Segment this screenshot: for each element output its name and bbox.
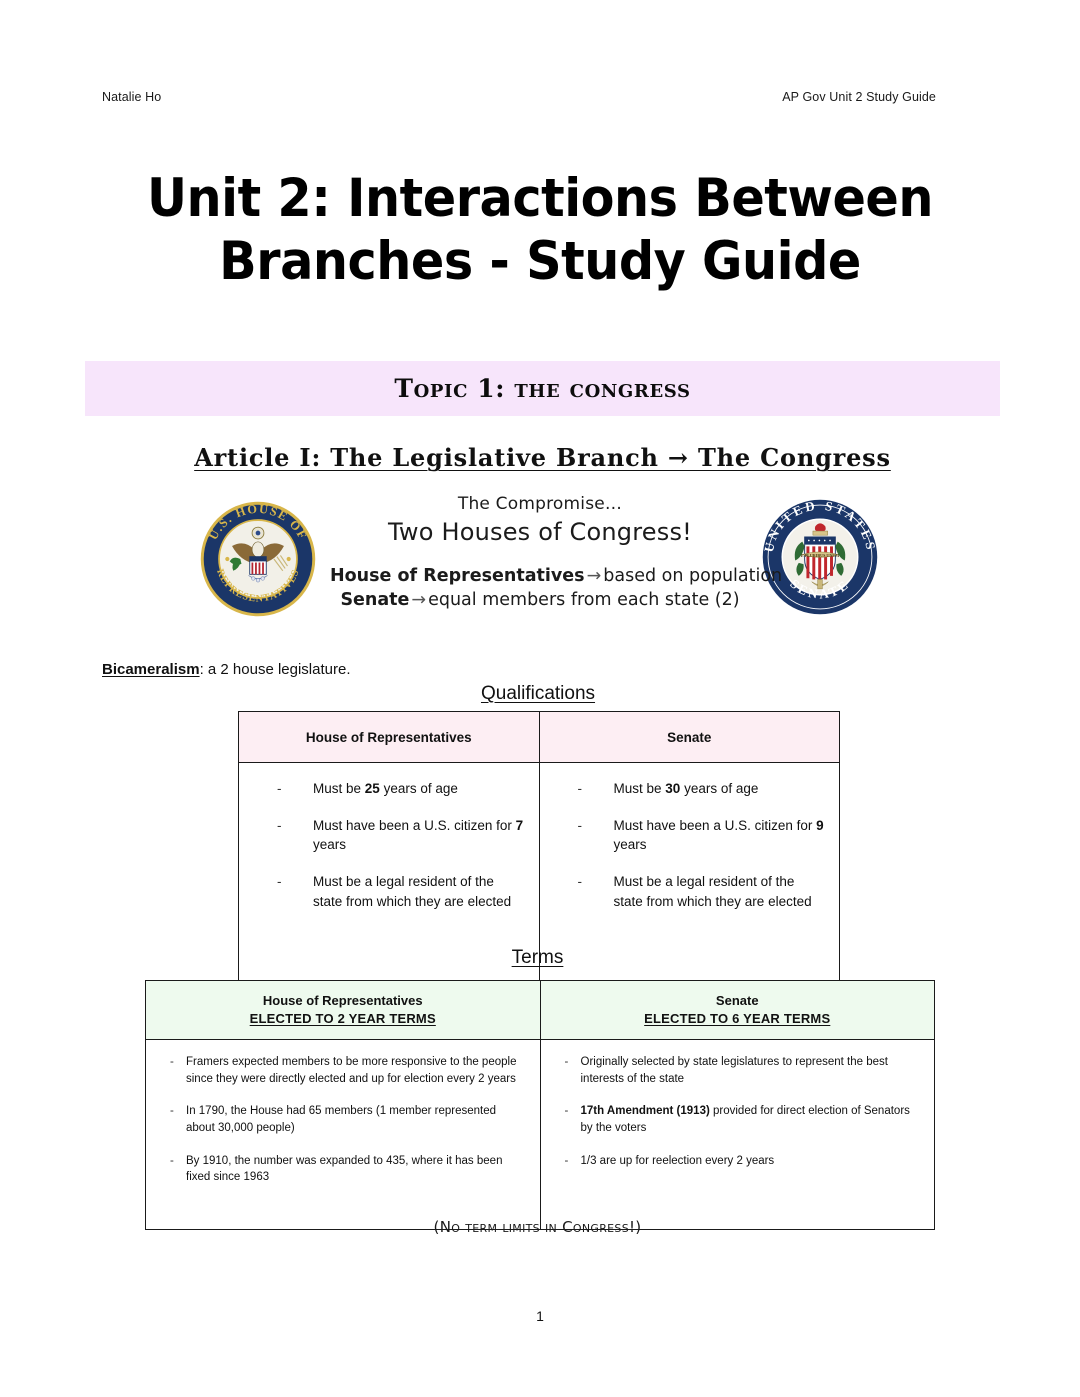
item-bold: 9 bbox=[816, 818, 824, 833]
page-number: 1 bbox=[0, 1308, 1080, 1324]
topic-banner: Topic 1: The Congress bbox=[85, 361, 1000, 416]
item-post: years bbox=[614, 837, 647, 852]
qualifications-heading: Qualifications bbox=[238, 683, 838, 705]
arrow-right-icon: → bbox=[409, 590, 428, 610]
item-pre: Originally selected by state legislature… bbox=[581, 1056, 888, 1085]
table-row: Framers expected members to be more resp… bbox=[146, 1040, 935, 1230]
item-pre: Must be a legal resident of the state fr… bbox=[614, 874, 812, 908]
compromise-senate-label: Senate bbox=[340, 590, 409, 610]
running-header: Natalie Ho AP Gov Unit 2 Study Guide bbox=[102, 90, 936, 104]
item-post: years of age bbox=[380, 781, 458, 796]
us-house-of-representatives-seal: U.S. HOUSE OF REPRESENTATIVES bbox=[199, 500, 317, 618]
item-bold: 17th Amendment (1913) bbox=[581, 1105, 710, 1117]
terms-house-list: Framers expected members to be more resp… bbox=[160, 1054, 526, 1186]
terms-senate-cell: Originally selected by state legislature… bbox=[540, 1040, 935, 1230]
terms-senate-list: Originally selected by state legislature… bbox=[555, 1054, 921, 1169]
item-pre: By 1910, the number was expanded to 435,… bbox=[186, 1155, 502, 1184]
item-pre: Must have been a U.S. citizen for bbox=[614, 818, 817, 833]
column-title: Senate bbox=[541, 992, 935, 1010]
united-states-senate-seal: UNITED STATES SENATE E PLURIBUS UNUM bbox=[761, 498, 879, 616]
column-subtitle: ELECTED TO 6 YEAR TERMS bbox=[541, 1010, 935, 1028]
list-item: Must be 30 years of age bbox=[552, 779, 828, 798]
item-pre: Must be bbox=[614, 781, 666, 796]
column-subtitle: ELECTED TO 2 YEAR TERMS bbox=[146, 1010, 540, 1028]
compromise-house-rule: House of Representatives→based on popula… bbox=[330, 566, 750, 586]
list-item: Originally selected by state legislature… bbox=[555, 1054, 921, 1087]
compromise-senate-rule: Senate→equal members from each state (2) bbox=[330, 590, 750, 610]
terms-heading: Terms bbox=[140, 947, 935, 969]
list-item: Must have been a U.S. citizen for 7 year… bbox=[251, 816, 527, 854]
column-title: House of Representatives bbox=[146, 992, 540, 1010]
author-name: Natalie Ho bbox=[102, 90, 161, 104]
qualifications-senate-list: Must be 30 years of age Must have been a… bbox=[552, 779, 828, 911]
terms-table: House of Representatives ELECTED TO 2 YE… bbox=[145, 980, 935, 1230]
compromise-line-2: Two Houses of Congress! bbox=[330, 518, 750, 546]
compromise-note: The Compromise… Two Houses of Congress! … bbox=[330, 494, 750, 610]
svg-text:E PLURIBUS UNUM: E PLURIBUS UNUM bbox=[801, 553, 839, 558]
item-pre: Must have been a U.S. citizen for bbox=[313, 818, 516, 833]
item-pre: Framers expected members to be more resp… bbox=[186, 1056, 516, 1085]
list-item: Must be a legal resident of the state fr… bbox=[251, 872, 527, 910]
item-bold: 7 bbox=[516, 818, 524, 833]
table-header-row: House of Representatives ELECTED TO 2 YE… bbox=[146, 981, 935, 1040]
bicameralism-definition: Bicameralism: a 2 house legislature. bbox=[102, 661, 351, 678]
item-post: years of age bbox=[680, 781, 758, 796]
bicameralism-term: Bicameralism bbox=[102, 661, 200, 678]
list-item: In 1790, the House had 65 members (1 mem… bbox=[160, 1103, 526, 1136]
compromise-house-value: based on population bbox=[603, 566, 782, 586]
compromise-line-1: The Compromise… bbox=[330, 494, 750, 514]
list-item: Framers expected members to be more resp… bbox=[160, 1054, 526, 1087]
qualifications-table: House of Representatives Senate Must be … bbox=[238, 711, 840, 986]
topic-banner-label: Topic 1: The Congress bbox=[394, 374, 690, 403]
list-item: 17th Amendment (1913) provided for direc… bbox=[555, 1103, 921, 1136]
article-subtitle: Article I: The Legislative Branch → The … bbox=[85, 443, 1000, 472]
document-page: Natalie Ho AP Gov Unit 2 Study Guide Uni… bbox=[0, 0, 1080, 1397]
column-header-senate: Senate bbox=[539, 712, 840, 763]
list-item: Must be a legal resident of the state fr… bbox=[552, 872, 828, 910]
item-pre: Must be a legal resident of the state fr… bbox=[313, 874, 511, 908]
item-pre: In 1790, the House had 65 members (1 mem… bbox=[186, 1105, 496, 1134]
item-pre: Must be bbox=[313, 781, 365, 796]
page-title: Unit 2: Interactions Between Branches - … bbox=[140, 168, 940, 293]
list-item: Must have been a U.S. citizen for 9 year… bbox=[552, 816, 828, 854]
item-pre: 1/3 are up for reelection every 2 years bbox=[581, 1155, 775, 1167]
qualifications-house-list: Must be 25 years of age Must have been a… bbox=[251, 779, 527, 911]
document-label: AP Gov Unit 2 Study Guide bbox=[782, 90, 936, 104]
list-item: 1/3 are up for reelection every 2 years bbox=[555, 1153, 921, 1170]
arrow-right-icon: → bbox=[585, 566, 604, 586]
column-header-house: House of Representatives bbox=[239, 712, 540, 763]
column-header-senate-terms: Senate ELECTED TO 6 YEAR TERMS bbox=[540, 981, 935, 1040]
column-header-house-terms: House of Representatives ELECTED TO 2 YE… bbox=[146, 981, 541, 1040]
compromise-senate-value: equal members from each state (2) bbox=[428, 590, 739, 610]
item-post: years bbox=[313, 837, 346, 852]
bicameralism-text: : a 2 house legislature. bbox=[200, 661, 351, 678]
table-header-row: House of Representatives Senate bbox=[239, 712, 840, 763]
term-limits-note: (No term limits in Congress!) bbox=[140, 1218, 935, 1236]
list-item: By 1910, the number was expanded to 435,… bbox=[160, 1153, 526, 1186]
list-item: Must be 25 years of age bbox=[251, 779, 527, 798]
item-bold: 30 bbox=[665, 781, 680, 796]
compromise-house-label: House of Representatives bbox=[330, 566, 585, 586]
terms-house-cell: Framers expected members to be more resp… bbox=[146, 1040, 541, 1230]
item-bold: 25 bbox=[365, 781, 380, 796]
